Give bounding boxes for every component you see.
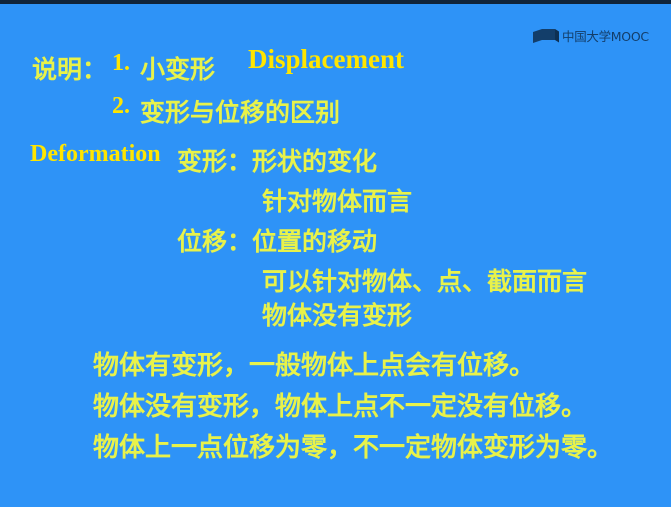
top-edge-strip [0,0,671,4]
definition-line-1: 变形：形状的变化 [177,142,377,178]
term-deformation: Deformation [30,141,161,168]
conclusion-line-2: 物体没有变形，物体上点不一定没有位移。 [93,386,587,423]
presentation-slide: 中国大学MOOC 说明： 1. 小变形 Displacement 2. 变形与位… [0,0,671,507]
list-item-1-text: 小变形 [140,50,215,86]
definition-line-5: 物体没有变形 [262,296,412,332]
list-number-2: 2. [112,93,130,120]
list-item-2-text: 变形与位移的区别 [140,93,340,129]
mooc-watermark: 中国大学MOOC [533,29,649,44]
conclusion-line-1: 物体有变形，一般物体上点会有位移。 [93,345,535,382]
definition-line-2: 针对物体而言 [262,182,412,218]
conclusion-line-3: 物体上一点位移为零，不一定物体变形为零。 [93,427,613,464]
term-displacement: Displacement [248,44,404,75]
definition-line-4: 可以针对物体、点、截面而言 [262,262,587,298]
explanation-label: 说明： [32,50,107,86]
list-number-1: 1. [112,50,130,77]
definition-line-3: 位移：位置的移动 [177,222,377,258]
mooc-brand-text: 中国大学MOOC [562,29,649,44]
book-icon [533,29,559,44]
